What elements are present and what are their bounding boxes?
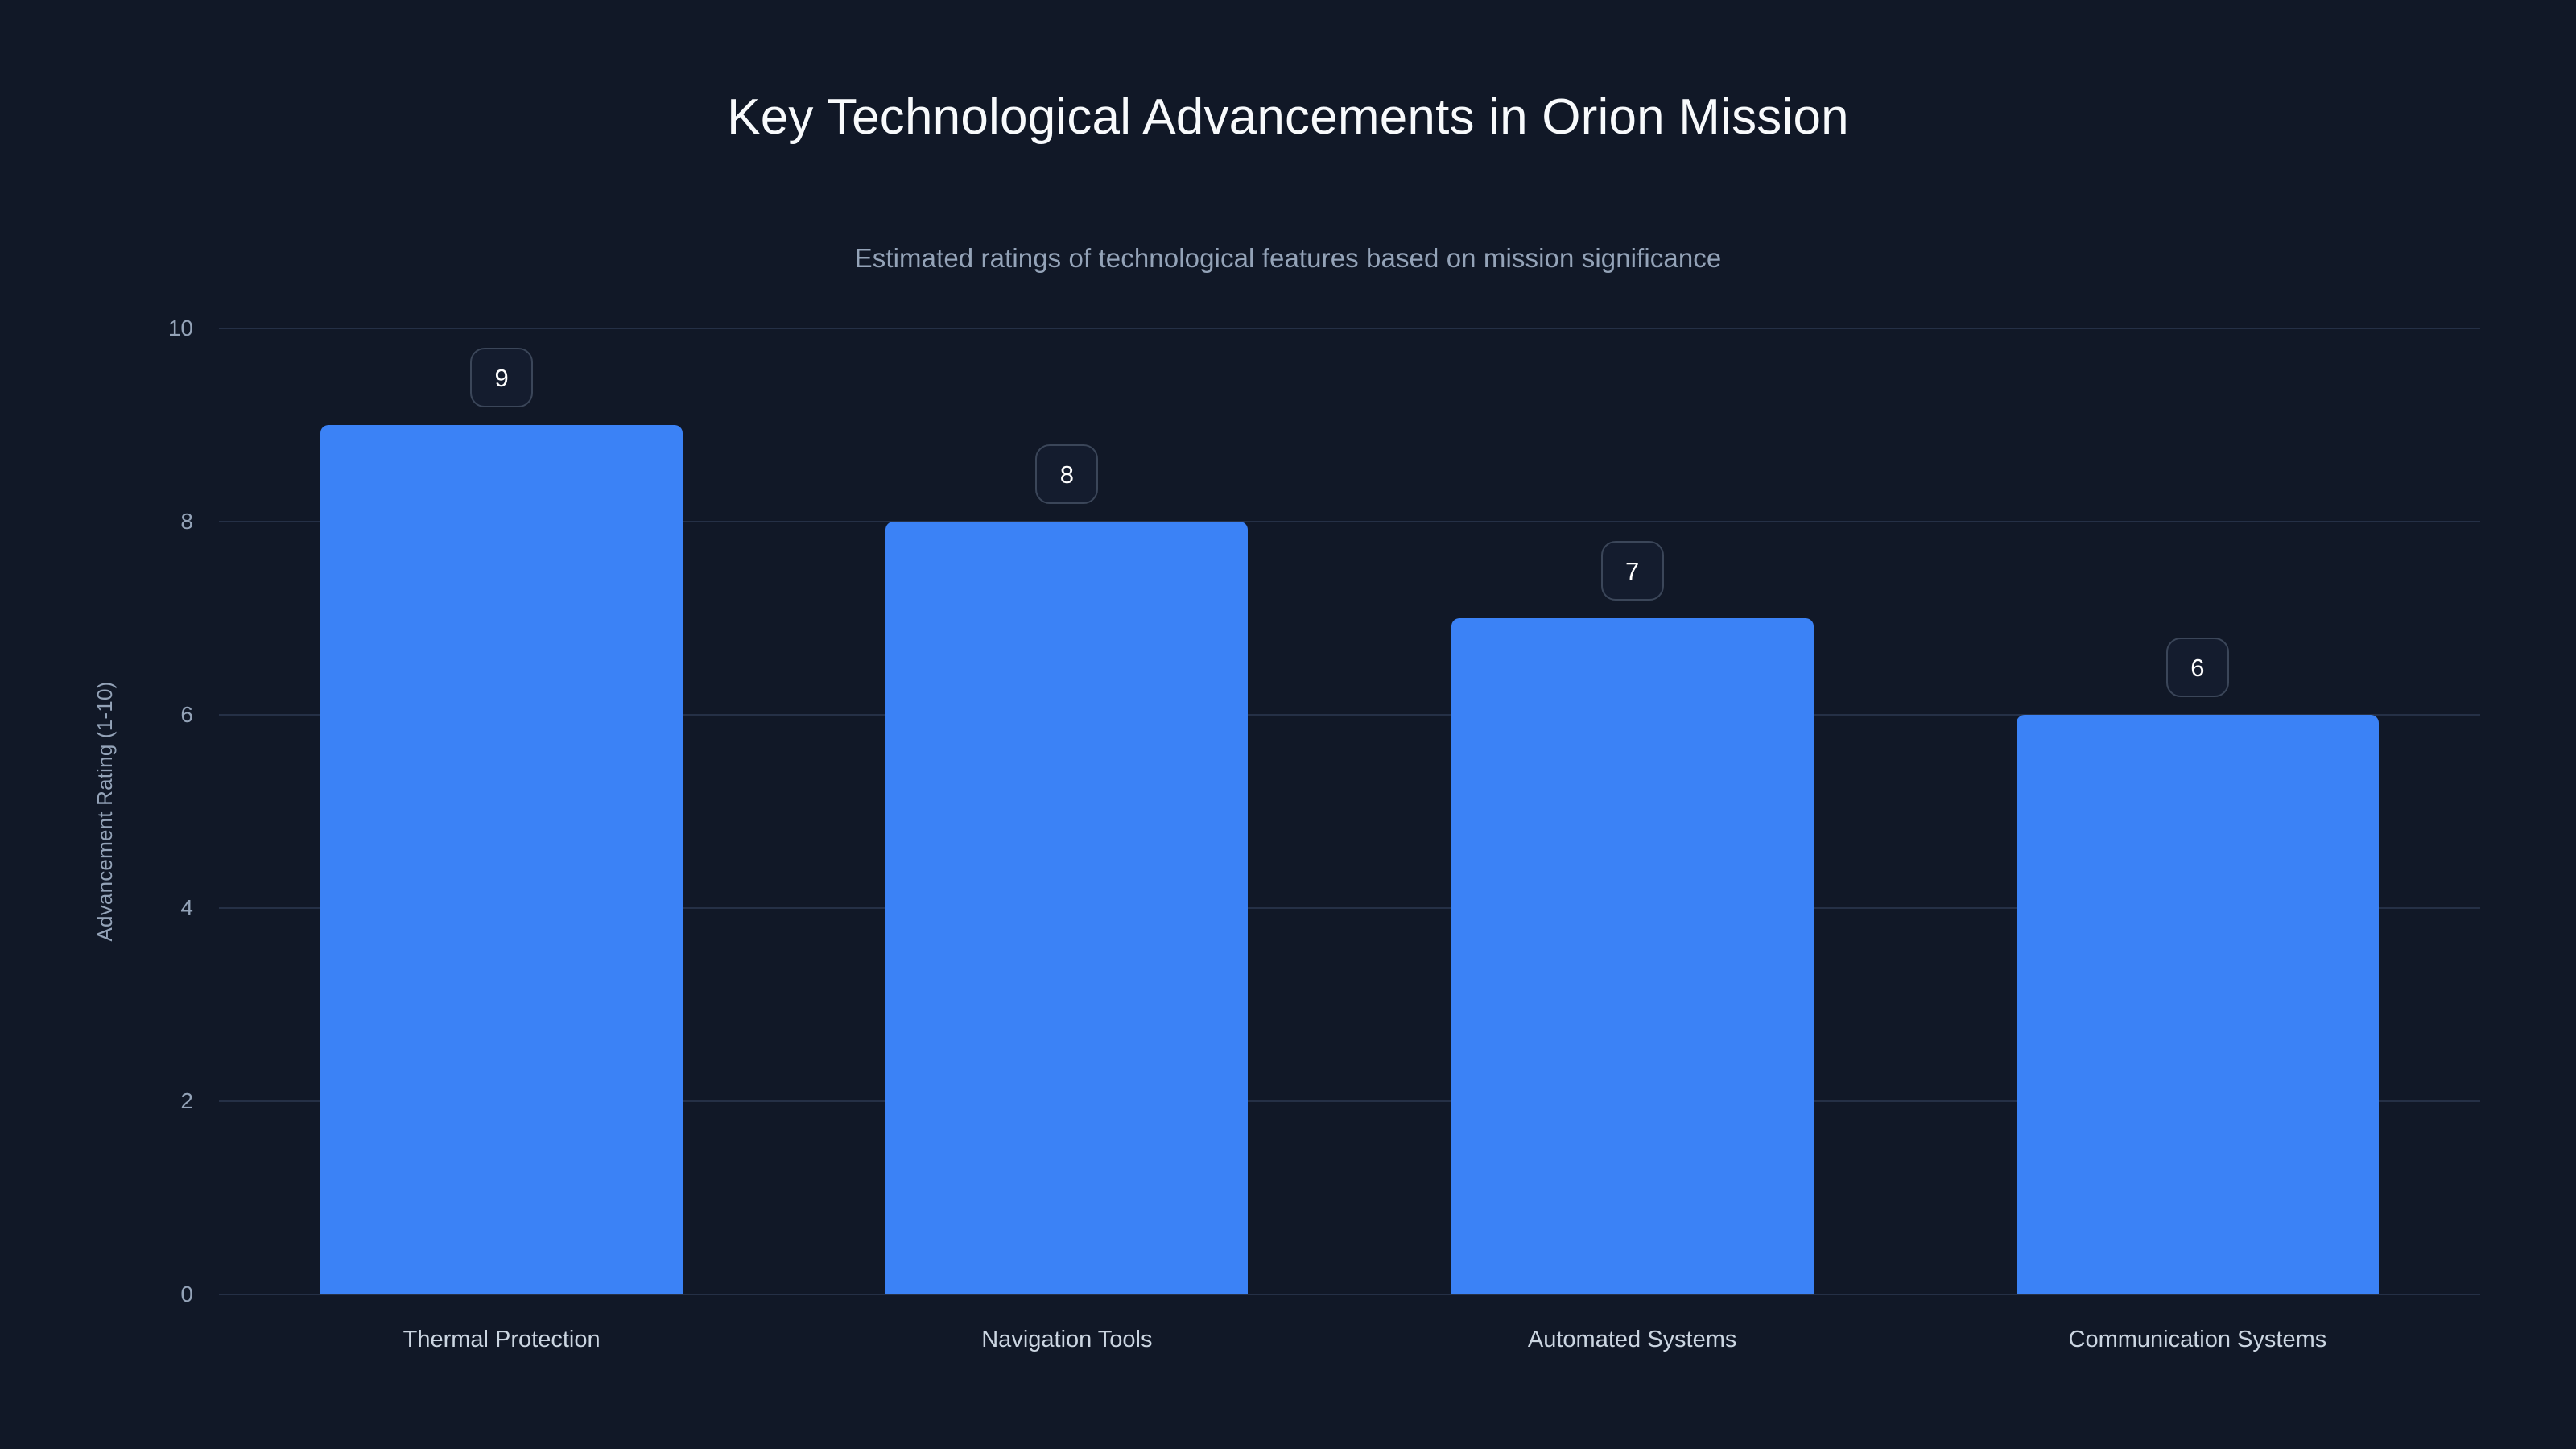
x-tick-label: Thermal Protection	[403, 1328, 601, 1352]
x-axis-ticks: Thermal ProtectionNavigation ToolsAutoma…	[219, 1328, 2480, 1364]
x-tick-label: Communication Systems	[2069, 1328, 2327, 1352]
y-tick-label: 2	[97, 1090, 193, 1113]
y-tick-label: 4	[97, 897, 193, 919]
y-tick-label: 10	[97, 317, 193, 340]
chart-title: Key Technological Advancements in Orion …	[0, 90, 2576, 145]
bar-value-label: 9	[470, 348, 533, 407]
bar[interactable]	[1451, 618, 1814, 1294]
y-tick-label: 6	[97, 704, 193, 726]
bar-value-label: 8	[1035, 444, 1098, 504]
plot-area: 9876	[219, 328, 2480, 1294]
bar-chart-figure: Key Technological Advancements in Orion …	[0, 0, 2576, 1449]
y-axis-ticks: 0246810	[90, 328, 193, 1294]
bar[interactable]	[2017, 715, 2379, 1294]
bar-value-label: 7	[1601, 541, 1664, 601]
y-tick-label: 8	[97, 510, 193, 533]
bar[interactable]	[885, 522, 1248, 1294]
bar[interactable]	[320, 425, 683, 1294]
y-tick-label: 0	[97, 1283, 193, 1306]
x-tick-label: Navigation Tools	[981, 1328, 1152, 1352]
bar-value-label: 6	[2166, 638, 2229, 697]
x-tick-label: Automated Systems	[1528, 1328, 1737, 1352]
chart-subtitle: Estimated ratings of technological featu…	[0, 244, 2576, 273]
gridline	[219, 328, 2480, 329]
